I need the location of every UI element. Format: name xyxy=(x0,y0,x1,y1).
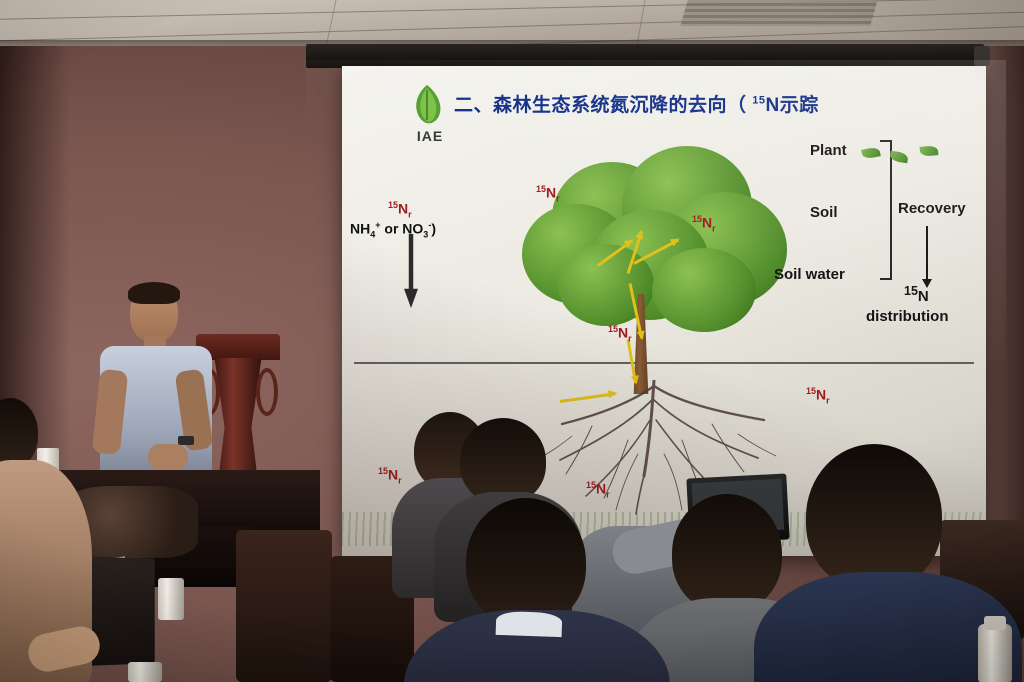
leaf-glyph-2 xyxy=(889,151,908,163)
label-soil-left: 15Nr xyxy=(378,466,402,485)
label-canopy-left: 15Nr xyxy=(536,184,560,203)
leaf-glyph-1 xyxy=(861,146,881,160)
leaf-glyph-3 xyxy=(920,145,939,157)
recovery-brace xyxy=(880,140,892,280)
audience-member-5 xyxy=(784,444,994,682)
water-bottle xyxy=(978,624,1012,682)
paper-cup-4 xyxy=(128,662,162,682)
label-distribution: distribution xyxy=(866,308,949,325)
photo-scene: IAE 二、森林生态系统氮沉降的去向（ 15N示踪 xyxy=(0,0,1024,682)
wristwatch xyxy=(178,436,194,445)
label-plant: Plant xyxy=(810,142,847,159)
chair-left xyxy=(236,530,332,682)
label-soil-center: 15Nr xyxy=(586,480,610,499)
label-root-right: 15Nr xyxy=(806,386,830,405)
screen-roller-case xyxy=(306,44,984,68)
label-recovery: Recovery xyxy=(898,200,966,217)
label-soil-water: Soil water xyxy=(774,266,845,283)
slide-title: 二、森林生态系统氮沉降的去向（ 15N示踪 xyxy=(454,90,974,117)
label-soil: Soil xyxy=(810,204,838,221)
label-distribution-n: 15N xyxy=(904,284,929,305)
label-input-species: 15Nr xyxy=(388,200,412,219)
label-trunk: 15Nr xyxy=(608,324,632,343)
paper-cup-3 xyxy=(158,578,184,620)
presenter-hair xyxy=(128,282,180,304)
presenter xyxy=(96,284,216,494)
deposition-arrow xyxy=(404,234,418,308)
recovery-arrow xyxy=(926,226,928,280)
label-canopy-right: 15Nr xyxy=(692,214,716,233)
bottle-cap xyxy=(984,616,1006,630)
audience-member-foreground-left xyxy=(0,398,92,682)
tree-canopy xyxy=(512,144,792,334)
iae-logo: IAE xyxy=(400,84,456,146)
leaf-icon xyxy=(410,84,444,126)
ceiling-vent xyxy=(680,0,877,26)
label-input-forms: NH4+ or NO3-) xyxy=(350,220,436,239)
logo-text: IAE xyxy=(406,128,454,144)
audience-member-3 xyxy=(430,498,640,682)
